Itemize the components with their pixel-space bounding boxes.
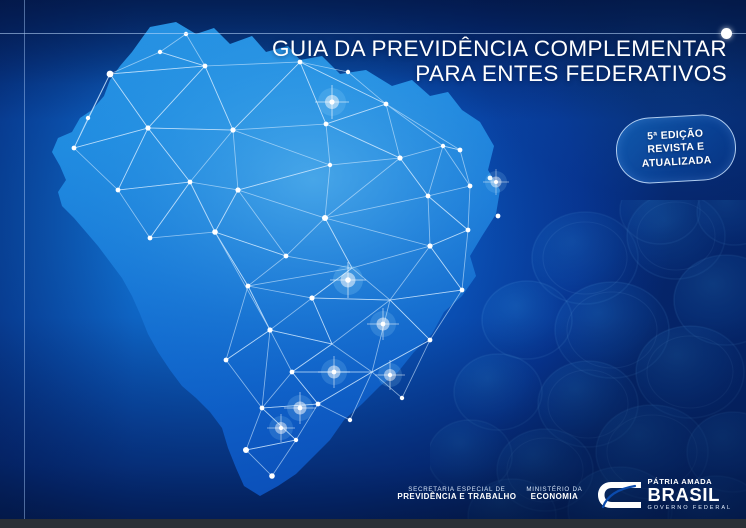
brasil-government-logo: PÁTRIA AMADA BRASIL GOVERNO FEDERAL (597, 477, 732, 512)
agency-economia: MINISTÉRIO DA ECONOMIA (526, 487, 582, 503)
brasil-arc-icon (597, 480, 643, 510)
edition-badge: 5ª EDIÇÃO REVISTA E ATUALIZADA (614, 113, 737, 186)
agency-previdencia: SECRETARIA ESPECIAL DE PREVIDÊNCIA E TRA… (397, 487, 516, 503)
header-rule-horizontal (0, 33, 746, 34)
footer-logos: SECRETARIA ESPECIAL DE PREVIDÊNCIA E TRA… (397, 477, 732, 512)
cover-page: GUIA DA PREVIDÊNCIA COMPLEMENTAR PARA EN… (0, 0, 746, 528)
agency-previdencia-bottom: PREVIDÊNCIA E TRABALHO (397, 493, 516, 502)
page-title: GUIA DA PREVIDÊNCIA COMPLEMENTAR PARA EN… (272, 36, 727, 86)
agency-economia-bottom: ECONOMIA (531, 493, 579, 502)
brasil-wordmark: PÁTRIA AMADA BRASIL GOVERNO FEDERAL (648, 477, 732, 512)
title-line-2: PARA ENTES FEDERATIVOS (272, 61, 727, 86)
title-line-1: GUIA DA PREVIDÊNCIA COMPLEMENTAR (272, 36, 727, 61)
badge-line-3: ATUALIZADA (641, 154, 712, 171)
brasil-line-2: BRASIL (648, 486, 720, 504)
frame-rule-vertical (24, 0, 25, 522)
brasil-line-3: GOVERNO FEDERAL (648, 504, 732, 512)
bottom-band (0, 519, 746, 528)
